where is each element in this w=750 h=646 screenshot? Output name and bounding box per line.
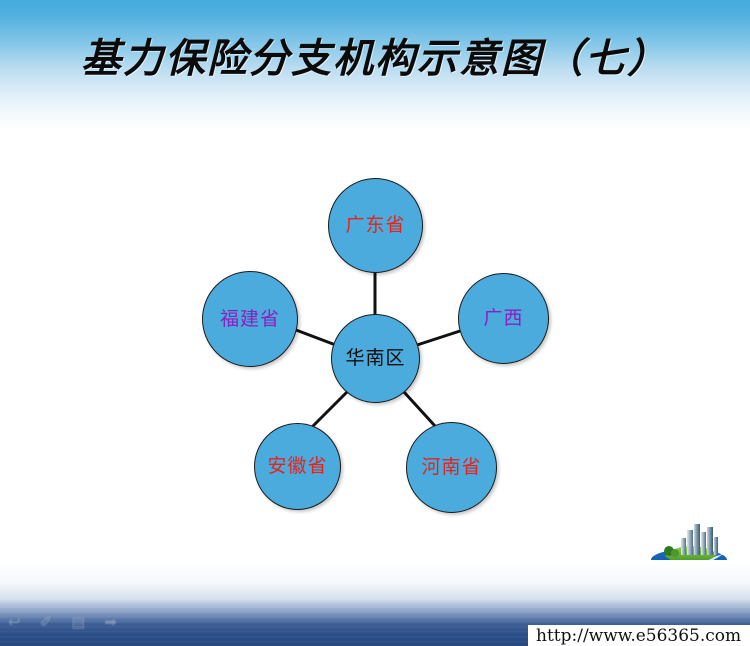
watermark-url-text: http://www.e56365.com xyxy=(536,626,741,646)
water-watermark-glyphs: ↩ ✐ ▤ ➡ xyxy=(8,615,117,630)
presentation-slide: 基力保险分支机构示意图（七） 广东省 福建省 广西 华南区 安徽 xyxy=(0,0,750,646)
connector-center-anhui xyxy=(313,392,347,426)
pencil-icon: ✐ xyxy=(40,615,53,630)
diagram-node-center-hub[interactable]: 华南区 xyxy=(331,314,420,403)
diagram-node-label: 华南区 xyxy=(345,349,405,368)
branch-structure-diagram: 广东省 福建省 广西 华南区 安徽省 河南省 xyxy=(0,0,750,560)
url-watermark: http://www.e56365.com xyxy=(528,625,750,646)
back-arrow-icon: ↩ xyxy=(8,615,21,630)
diagram-node-label: 福建省 xyxy=(220,310,280,329)
diagram-node-anhui[interactable]: 安徽省 xyxy=(254,423,341,510)
diagram-node-guangdong[interactable]: 广东省 xyxy=(328,178,423,273)
diagram-node-label: 广西 xyxy=(483,309,523,328)
page-icon: ▤ xyxy=(71,615,85,630)
forward-arrow-icon: ➡ xyxy=(104,615,117,630)
diagram-node-henan[interactable]: 河南省 xyxy=(406,422,497,513)
diagram-node-label: 安徽省 xyxy=(267,457,327,476)
diagram-node-label: 广东省 xyxy=(345,216,405,235)
connector-center-fujian xyxy=(296,330,333,344)
diagram-node-guangxi[interactable]: 广西 xyxy=(458,273,549,364)
diagram-node-label: 河南省 xyxy=(421,458,481,477)
connector-lines-svg xyxy=(0,0,750,560)
connector-center-henan xyxy=(404,392,435,426)
connector-center-guangxi xyxy=(417,331,460,345)
diagram-node-fujian[interactable]: 福建省 xyxy=(202,271,298,367)
